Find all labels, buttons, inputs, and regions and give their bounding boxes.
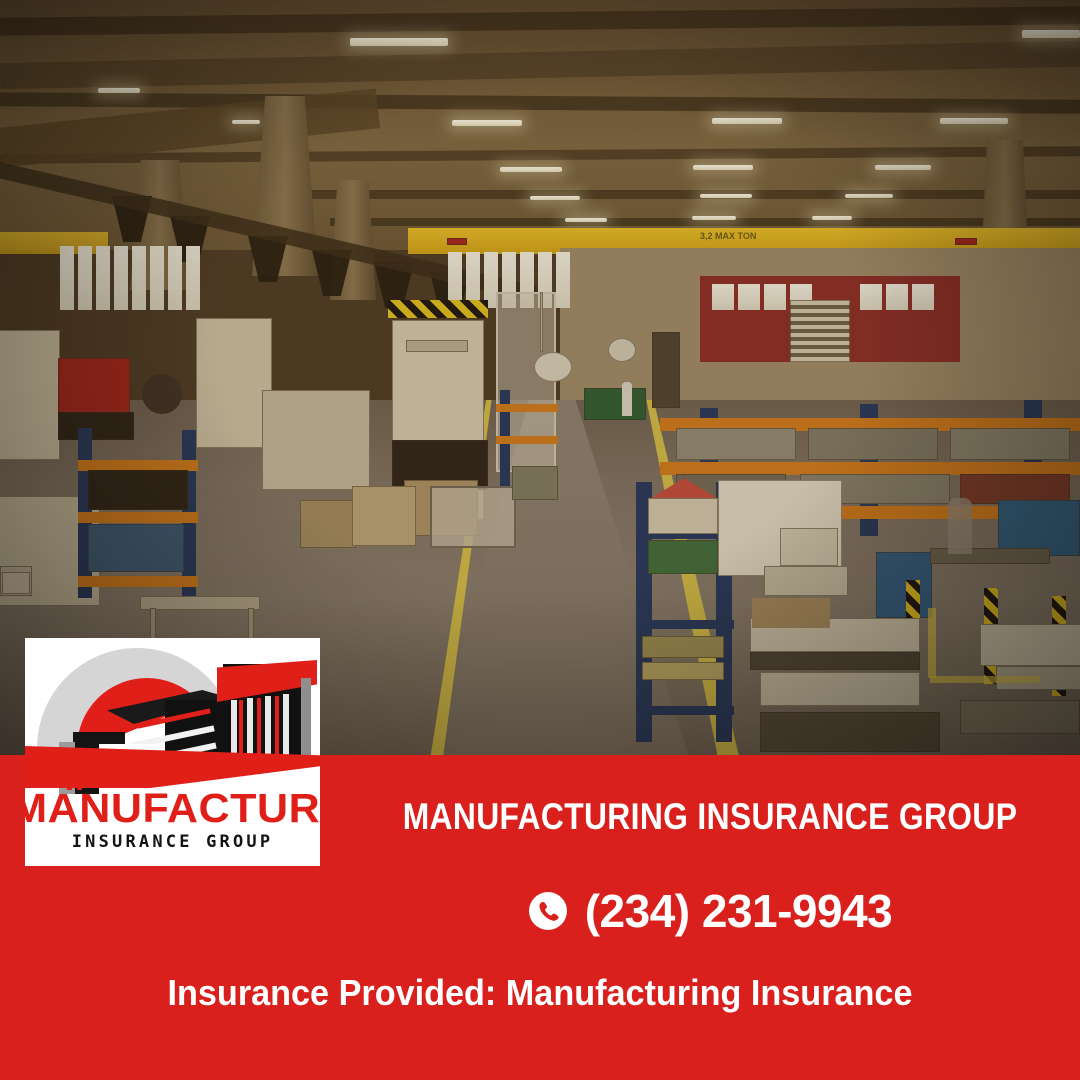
machine-housing (88, 524, 184, 572)
fan (142, 374, 182, 414)
window-pane (150, 246, 164, 310)
poster (2, 572, 30, 594)
rack-load (808, 428, 938, 460)
ceiling-light (500, 167, 562, 172)
press-arm (406, 340, 468, 352)
social-media-post: 3,2 MAX TON (0, 0, 1080, 1080)
rack-item (648, 540, 718, 574)
office-window-row (860, 284, 934, 310)
pallet-stack (760, 672, 920, 706)
window-pane (60, 246, 74, 310)
worker (622, 382, 632, 416)
ceiling-light (232, 120, 260, 124)
factory-window-row (60, 246, 200, 310)
window-pane (712, 284, 734, 310)
worker (948, 498, 972, 554)
ceiling-light (565, 218, 607, 222)
rack-box (648, 498, 718, 534)
machine-part (88, 470, 188, 510)
ceiling-light (350, 38, 448, 46)
window-pane (186, 246, 200, 310)
rack-item (642, 662, 724, 680)
window-pane (78, 246, 92, 310)
cardboard-box (752, 598, 830, 628)
cage-container (430, 486, 516, 548)
crane-capacity-label: 3,2 MAX TON (700, 232, 756, 241)
company-logo: MANUFACTURING INSURANCE GROUP (25, 638, 320, 866)
ceiling-light (845, 194, 893, 198)
pallet-load (960, 700, 1080, 734)
floor-marking (930, 676, 1040, 683)
ceiling-light (452, 120, 522, 126)
red-press (58, 358, 130, 420)
phone-circle-icon (528, 891, 568, 931)
pallet-stack (750, 652, 920, 670)
phone-number[interactable]: (234) 231-9943 (585, 888, 893, 934)
pallet-load (980, 624, 1080, 666)
floor-marking (928, 608, 936, 678)
crane-marker (955, 238, 977, 245)
pallet-load (764, 566, 848, 596)
ceiling-light (700, 194, 752, 198)
reflector-lamp (608, 338, 636, 362)
rack-beam (78, 576, 198, 587)
window-pane (912, 284, 934, 310)
doorway (652, 332, 680, 408)
pallet-load (760, 712, 940, 752)
window-pane (764, 284, 786, 310)
window-pane (168, 246, 182, 310)
window-pane (96, 246, 110, 310)
ceiling-light (812, 216, 852, 220)
equipment-case (780, 528, 838, 566)
window-pane (738, 284, 760, 310)
rack-load (950, 428, 1070, 460)
ceiling-light (98, 88, 140, 93)
window-pane (860, 284, 882, 310)
pipe (540, 292, 543, 352)
window-pane (556, 252, 570, 308)
tall-rack-brace (636, 706, 734, 715)
window-pane (114, 246, 128, 310)
cabinet (512, 466, 558, 500)
crate (352, 486, 416, 546)
insurance-provided-line: Insurance Provided: Manufacturing Insura… (27, 975, 1053, 1011)
ceiling-light (693, 165, 753, 170)
phone-row[interactable]: (234) 231-9943 (340, 888, 1080, 934)
ceiling-beam (300, 190, 1080, 199)
company-name-heading: MANUFACTURING INSURANCE GROUP (392, 798, 1028, 835)
stairs (790, 300, 850, 362)
ceiling-light (712, 118, 782, 124)
rack-beam (78, 512, 198, 523)
blue-cabinet (876, 552, 932, 618)
rack-beam (496, 404, 558, 412)
machine-housing (0, 330, 60, 460)
window-pane (886, 284, 908, 310)
logo-tagline: INSURANCE GROUP (25, 834, 320, 851)
machine-housing (262, 390, 370, 490)
hazard-stripe (388, 300, 488, 318)
tall-rack-brace (636, 620, 734, 629)
worktable (140, 596, 260, 610)
ceiling-light (940, 118, 1008, 124)
ceiling-light (875, 165, 931, 170)
ceiling-light (530, 196, 580, 200)
rack-load (676, 428, 796, 460)
logo-wordmark: MANUFACTURING (25, 788, 320, 829)
window-pane (132, 246, 146, 310)
rack-beam (496, 436, 558, 444)
rack-item (642, 636, 724, 658)
ceiling-light (692, 216, 736, 220)
reflector-lamp (534, 352, 572, 382)
ceiling-light (1022, 30, 1080, 38)
press-base (58, 412, 134, 440)
machine-housing (196, 318, 272, 448)
green-machine (584, 388, 646, 420)
crate (300, 500, 356, 548)
crane-marker (447, 238, 467, 245)
